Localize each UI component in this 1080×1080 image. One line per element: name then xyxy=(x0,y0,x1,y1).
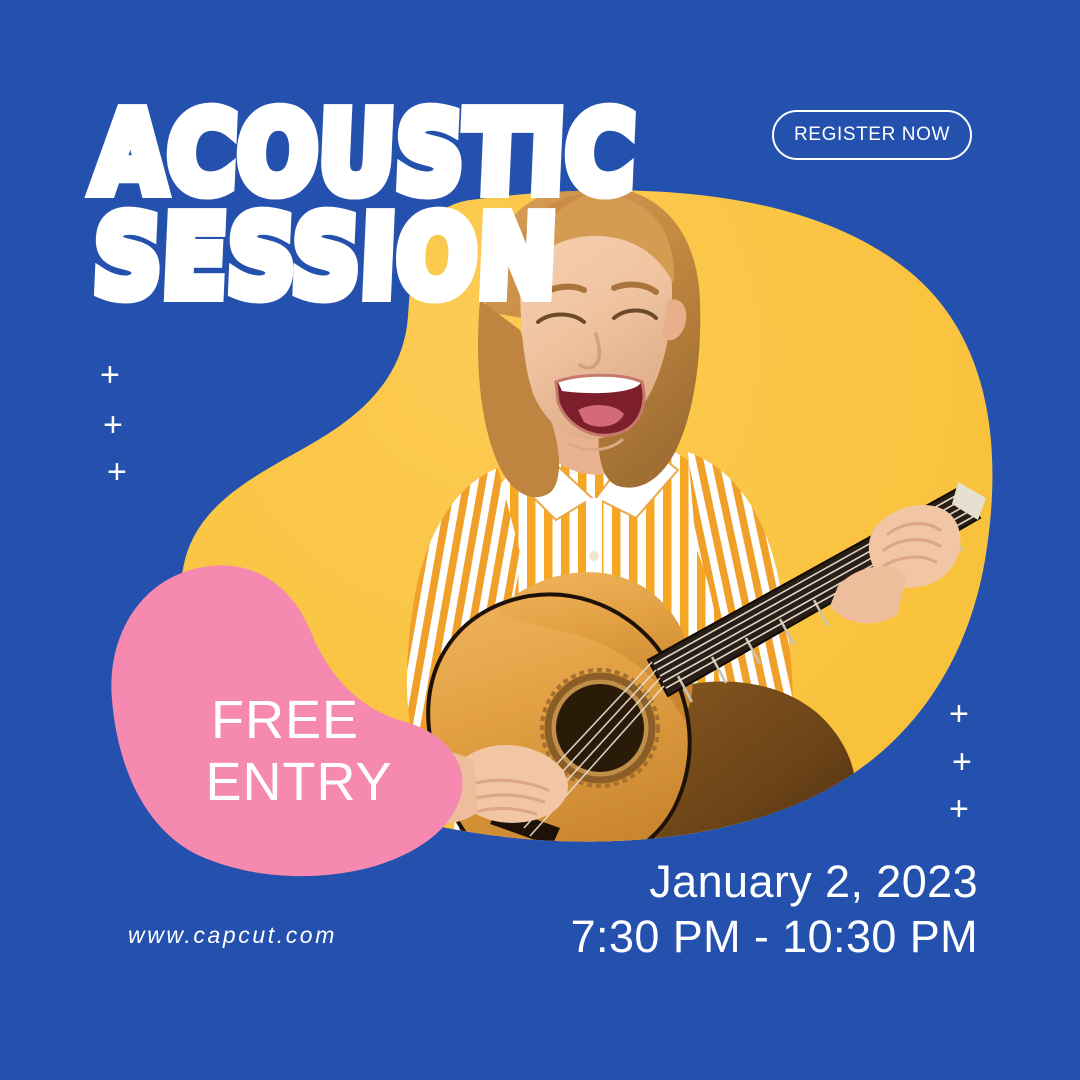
event-date: January 2, 2023 xyxy=(571,855,978,910)
free-entry-line-1: FREE xyxy=(150,690,420,752)
plus-decoration-left-1: + xyxy=(100,358,120,392)
plus-decoration-left-3: + xyxy=(107,455,127,489)
free-entry-badge-text: FREE ENTRY xyxy=(150,690,420,813)
plus-decoration-left-2: + xyxy=(103,408,123,442)
plus-decoration-right-3: + xyxy=(949,792,969,826)
free-entry-line-2: ENTRY xyxy=(150,752,420,814)
website-url[interactable]: www.capcut.com xyxy=(128,922,337,949)
event-details: January 2, 2023 7:30 PM - 10:30 PM xyxy=(571,855,978,965)
plus-decoration-right-2: + xyxy=(952,745,972,779)
event-time: 7:30 PM - 10:30 PM xyxy=(571,910,978,965)
plus-decoration-right-1: + xyxy=(949,697,969,731)
strumming-hand xyxy=(404,745,568,824)
register-now-button[interactable]: REGISTER NOW xyxy=(772,110,972,160)
poster-canvas: FREE ENTRY ACOUSTIC SESSION REGISTER NOW… xyxy=(0,0,1080,1080)
